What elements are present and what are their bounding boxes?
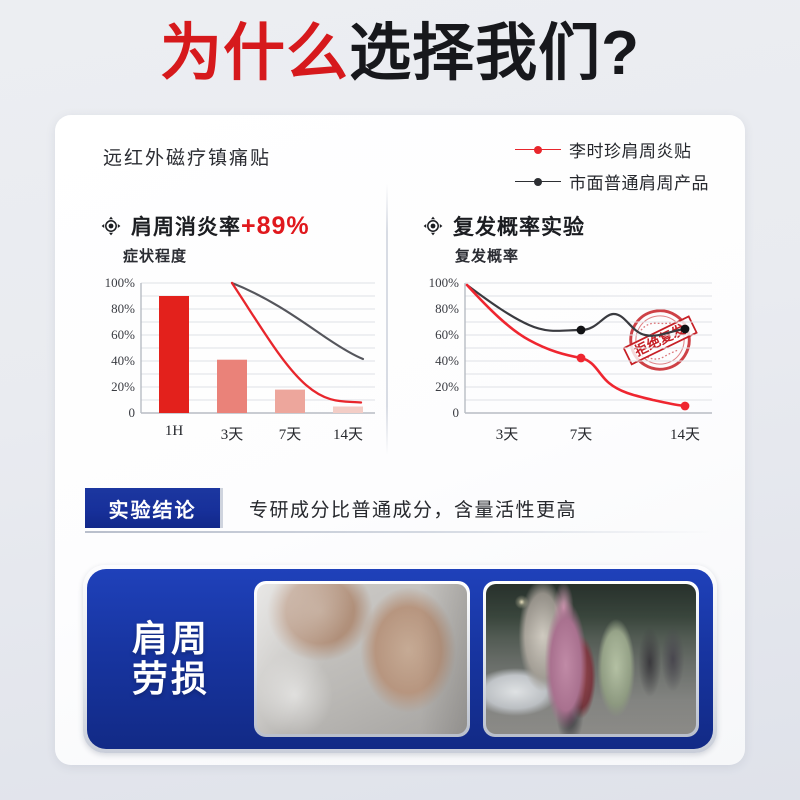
section-title-inflammation-text: 肩周消炎率: [131, 216, 241, 239]
headline-red-part: 为什么: [160, 19, 349, 88]
legend-item-product: 李时珍肩周炎贴: [515, 137, 709, 162]
red-marker-7d: [577, 354, 586, 363]
left-ytick-100: 100%: [83, 275, 135, 291]
product-name: 远红外磁疗镇痛贴: [103, 143, 271, 170]
left-ytick-40: 40%: [83, 353, 135, 369]
bar-1h: [159, 296, 189, 413]
chart-legend: 李时珍肩周炎贴 市面普通肩周产品: [515, 137, 709, 194]
bottom-banner-caption: 肩周 劳损: [101, 619, 241, 700]
square-dancing-photo: [486, 584, 696, 734]
legend-label-product: 李时珍肩周炎贴: [569, 137, 692, 162]
conclusion-bar: 实验结论 专研成分比普通成分，含量活性更高: [85, 487, 715, 529]
bottom-banner-inner: 肩周 劳损: [87, 569, 713, 749]
legend-line-red-icon: [515, 145, 561, 155]
bar-3d: [217, 360, 247, 413]
legend-item-generic: 市面普通肩周产品: [515, 169, 709, 194]
left-xtick-1h: 1H: [149, 423, 199, 440]
red-curve: [232, 283, 361, 403]
square-dancing-photo-frame: [483, 581, 699, 737]
recurrence-probability-chart: 复发概率 拒绝复发: [407, 245, 727, 460]
left-ytick-60: 60%: [83, 327, 135, 343]
shoulder-pain-photo-frame: [254, 581, 470, 737]
bottom-caption-line1: 肩周: [101, 619, 241, 659]
right-xtick-7d: 7天: [555, 423, 607, 444]
shoulder-pain-photo: [257, 584, 467, 734]
left-xtick-7d: 7天: [265, 423, 315, 444]
bottom-caption-line2: 劳损: [101, 659, 241, 699]
right-chart-plot: 100% 80% 60% 40% 20% 0 3天 7天 14天: [407, 277, 727, 442]
legend-line-black-icon: [515, 177, 561, 187]
right-xtick-14d: 14天: [659, 423, 711, 444]
panel-divider: [386, 183, 388, 455]
right-ytick-60: 60%: [407, 327, 459, 343]
section-header-inflammation: 肩周消炎率+89%: [101, 211, 310, 241]
right-xtick-3d: 3天: [481, 423, 533, 444]
right-ytick-0: 0: [407, 405, 459, 421]
red-recurrence-curve: [467, 285, 685, 406]
left-ytick-80: 80%: [83, 301, 135, 317]
headline-black-part: 选择我们?: [349, 19, 640, 88]
left-ytick-20: 20%: [83, 379, 135, 395]
legend-label-generic: 市面普通肩周产品: [569, 169, 709, 194]
bottom-banner: 肩周 劳损: [83, 565, 717, 753]
gray-recurrence-curve: [467, 285, 685, 336]
conclusion-badge: 实验结论: [85, 488, 220, 528]
gray-marker-14d: [681, 325, 690, 334]
conclusion-underline: [85, 531, 715, 533]
left-chart-ylabel: 症状程度: [123, 245, 187, 266]
section-title-recurrence: 复发概率实验: [453, 211, 585, 241]
bar-14d: [333, 407, 363, 414]
left-xtick-14d: 14天: [323, 423, 373, 444]
left-xtick-3d: 3天: [207, 423, 257, 444]
right-ytick-80: 80%: [407, 301, 459, 317]
right-ytick-100: 100%: [407, 275, 459, 291]
crosshair-icon: [101, 216, 121, 236]
red-marker-14d: [681, 402, 690, 411]
inflammation-reduction-chart: 症状程度: [85, 245, 385, 460]
conclusion-divider: [220, 488, 223, 528]
conclusion-text: 专研成分比普通成分，含量活性更高: [249, 495, 577, 522]
right-ytick-40: 40%: [407, 353, 459, 369]
right-ytick-20: 20%: [407, 379, 459, 395]
section-title-inflammation-accent: +89%: [241, 212, 310, 240]
right-chart-ylabel: 复发概率: [455, 245, 519, 266]
page-headline: 为什么选择我们?: [0, 8, 800, 100]
bar-7d: [275, 390, 305, 413]
section-title-inflammation: 肩周消炎率+89%: [131, 211, 310, 241]
left-ytick-0: 0: [83, 405, 135, 421]
gray-marker-7d: [577, 326, 586, 335]
section-header-recurrence: 复发概率实验: [423, 211, 585, 241]
crosshair-icon: [423, 216, 443, 236]
left-chart-plot: 100% 80% 60% 40% 20% 0 1H 3天 7天 14天: [85, 277, 385, 442]
content-card: 远红外磁疗镇痛贴 李时珍肩周炎贴 市面普通肩周产品 肩周消炎率+89%: [55, 115, 745, 765]
